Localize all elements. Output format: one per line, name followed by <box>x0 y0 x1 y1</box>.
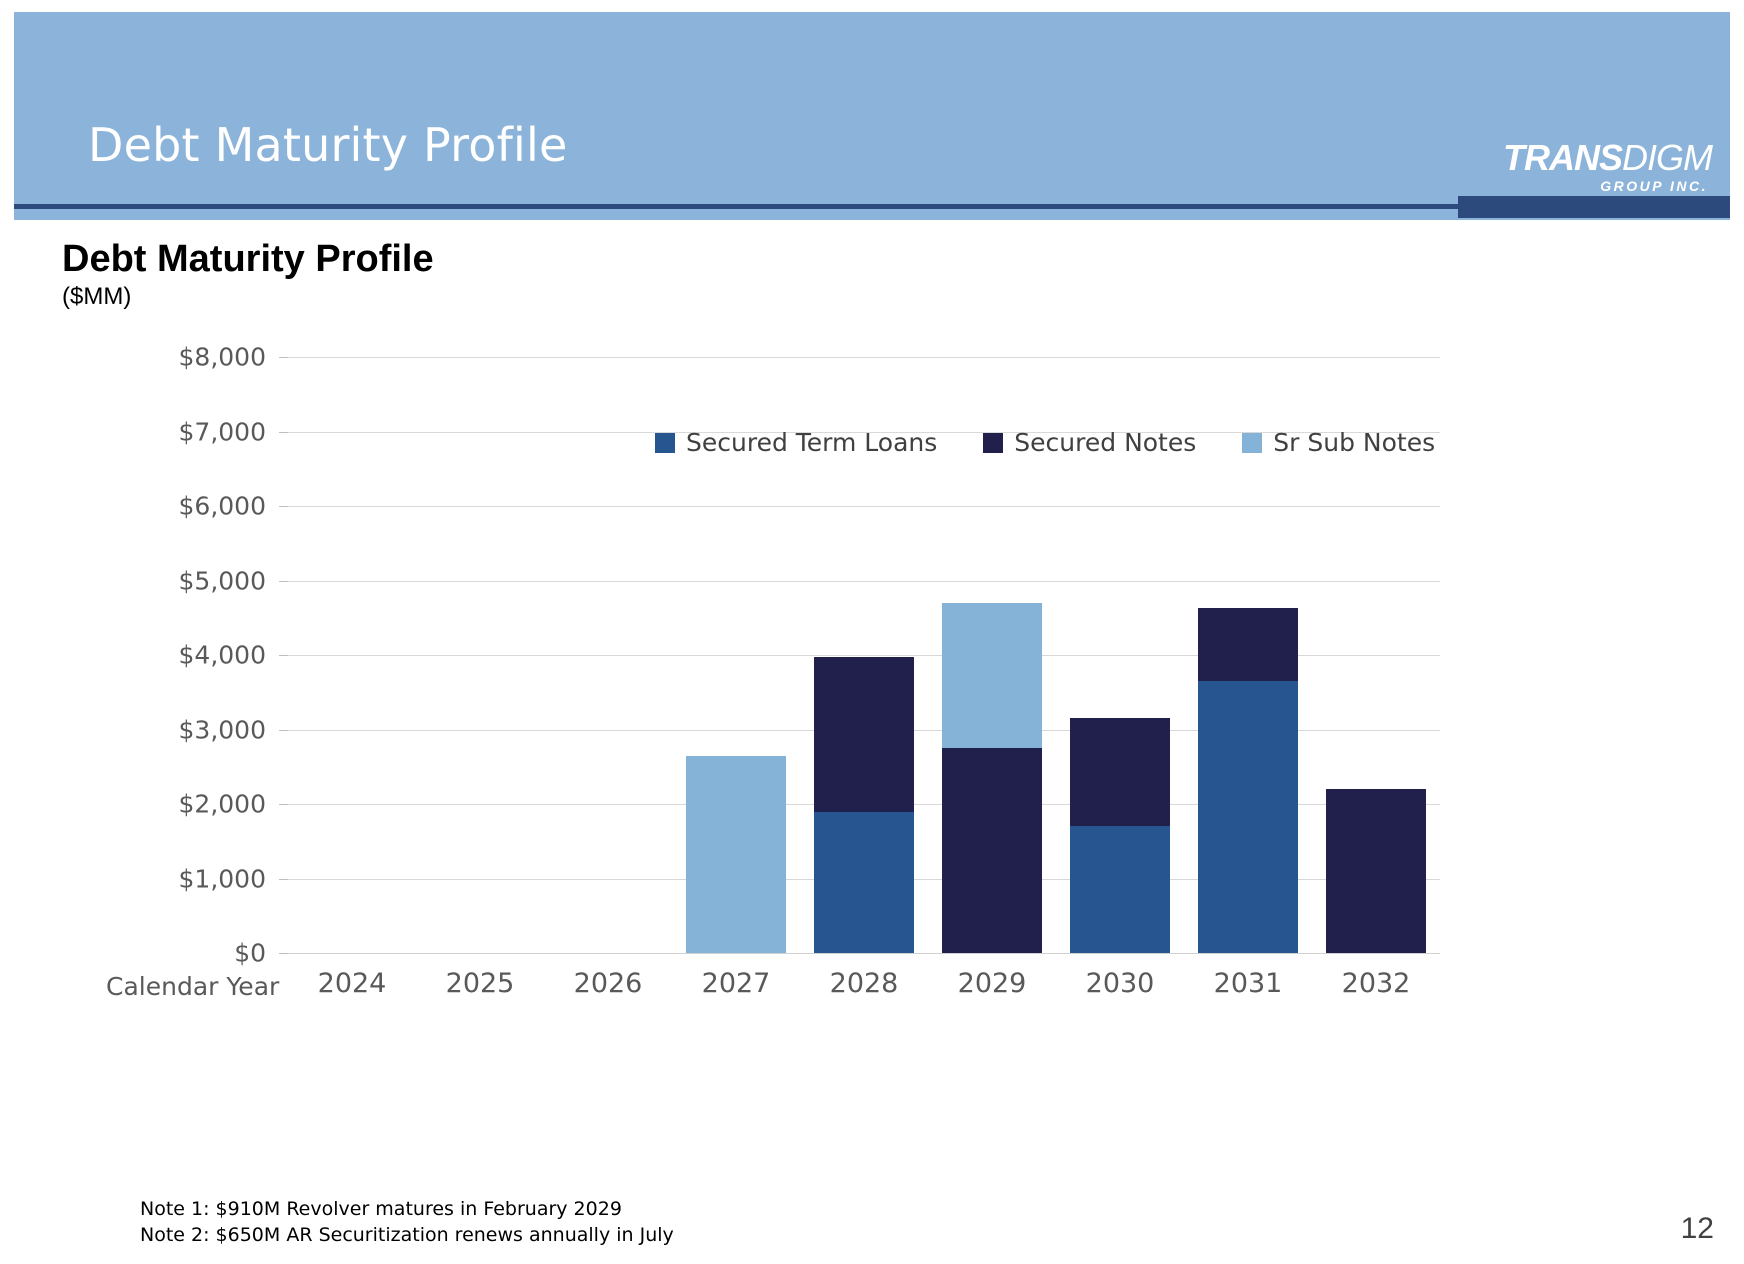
y-axis-tick-label: $6,000 <box>179 492 266 521</box>
y-axis-tick-label: $5,000 <box>179 566 266 595</box>
slide: Debt Maturity Profile TRANSDIGM GROUP IN… <box>0 0 1744 1264</box>
y-axis-tick-label: $2,000 <box>179 790 266 819</box>
bar-segment[interactable] <box>1198 608 1298 681</box>
page-number: 12 <box>1681 1212 1714 1246</box>
y-axis-tick-mark <box>279 730 288 731</box>
y-axis-tick-label: $7,000 <box>179 417 266 446</box>
y-axis-tick-mark <box>279 357 288 358</box>
y-axis-tick-label: $4,000 <box>179 641 266 670</box>
bar-segment[interactable] <box>814 657 914 812</box>
bar-segment[interactable] <box>942 603 1042 748</box>
x-axis-tick-label: 2025 <box>416 968 544 999</box>
y-axis-tick-mark <box>279 953 288 954</box>
x-axis-tick-label: 2026 <box>544 968 672 999</box>
bar-segment[interactable] <box>686 756 786 953</box>
y-axis-tick-label: $3,000 <box>179 715 266 744</box>
legend-swatch-icon <box>1242 433 1262 453</box>
x-axis-tick-label: 2024 <box>288 968 416 999</box>
y-axis-tick-mark <box>279 879 288 880</box>
y-axis-tick-mark <box>279 655 288 656</box>
gridline <box>288 953 1440 954</box>
footnote-2: Note 2: $650M AR Securitization renews a… <box>140 1222 674 1248</box>
y-axis-tick-label: $8,000 <box>179 343 266 372</box>
x-axis-title: Calendar Year <box>106 972 279 1001</box>
legend-label: Secured Notes <box>1014 428 1196 457</box>
legend-label: Sr Sub Notes <box>1273 428 1435 457</box>
x-axis-tick-label: 2030 <box>1056 968 1184 999</box>
y-axis-tick-mark <box>279 506 288 507</box>
bar-segment[interactable] <box>1070 718 1170 825</box>
y-axis-tick-label: $1,000 <box>179 864 266 893</box>
legend-swatch-icon <box>983 433 1003 453</box>
bar-column[interactable] <box>1198 608 1298 953</box>
y-axis-tick-mark <box>279 804 288 805</box>
x-axis-tick-label: 2032 <box>1312 968 1440 999</box>
footnote-1: Note 1: $910M Revolver matures in Februa… <box>140 1196 674 1222</box>
y-axis-tick-mark <box>279 432 288 433</box>
bar-segment[interactable] <box>1070 826 1170 953</box>
bar-segment[interactable] <box>942 748 1042 953</box>
x-axis-tick-label: 2028 <box>800 968 928 999</box>
bar-segment[interactable] <box>1198 681 1298 953</box>
y-axis-tick-mark <box>279 581 288 582</box>
chart-legend: Secured Term LoansSecured NotesSr Sub No… <box>655 428 1435 457</box>
y-axis-tick-label: $0 <box>234 939 266 968</box>
x-axis-tick-label: 2029 <box>928 968 1056 999</box>
legend-label: Secured Term Loans <box>686 428 937 457</box>
legend-item[interactable]: Secured Term Loans <box>655 428 937 457</box>
footnotes: Note 1: $910M Revolver matures in Februa… <box>140 1196 674 1248</box>
bar-column[interactable] <box>942 603 1042 953</box>
bar-column[interactable] <box>814 657 914 953</box>
x-axis-tick-label: 2031 <box>1184 968 1312 999</box>
legend-item[interactable]: Sr Sub Notes <box>1242 428 1435 457</box>
chart: $8,000$7,000$6,000$5,000$4,000$3,000$2,0… <box>0 0 1744 1264</box>
bar-column[interactable] <box>1326 789 1426 953</box>
bar-column[interactable] <box>1070 718 1170 953</box>
bar-segment[interactable] <box>814 812 914 953</box>
legend-item[interactable]: Secured Notes <box>983 428 1196 457</box>
legend-swatch-icon <box>655 433 675 453</box>
bar-column[interactable] <box>686 756 786 953</box>
x-axis-tick-label: 2027 <box>672 968 800 999</box>
bar-segment[interactable] <box>1326 789 1426 953</box>
